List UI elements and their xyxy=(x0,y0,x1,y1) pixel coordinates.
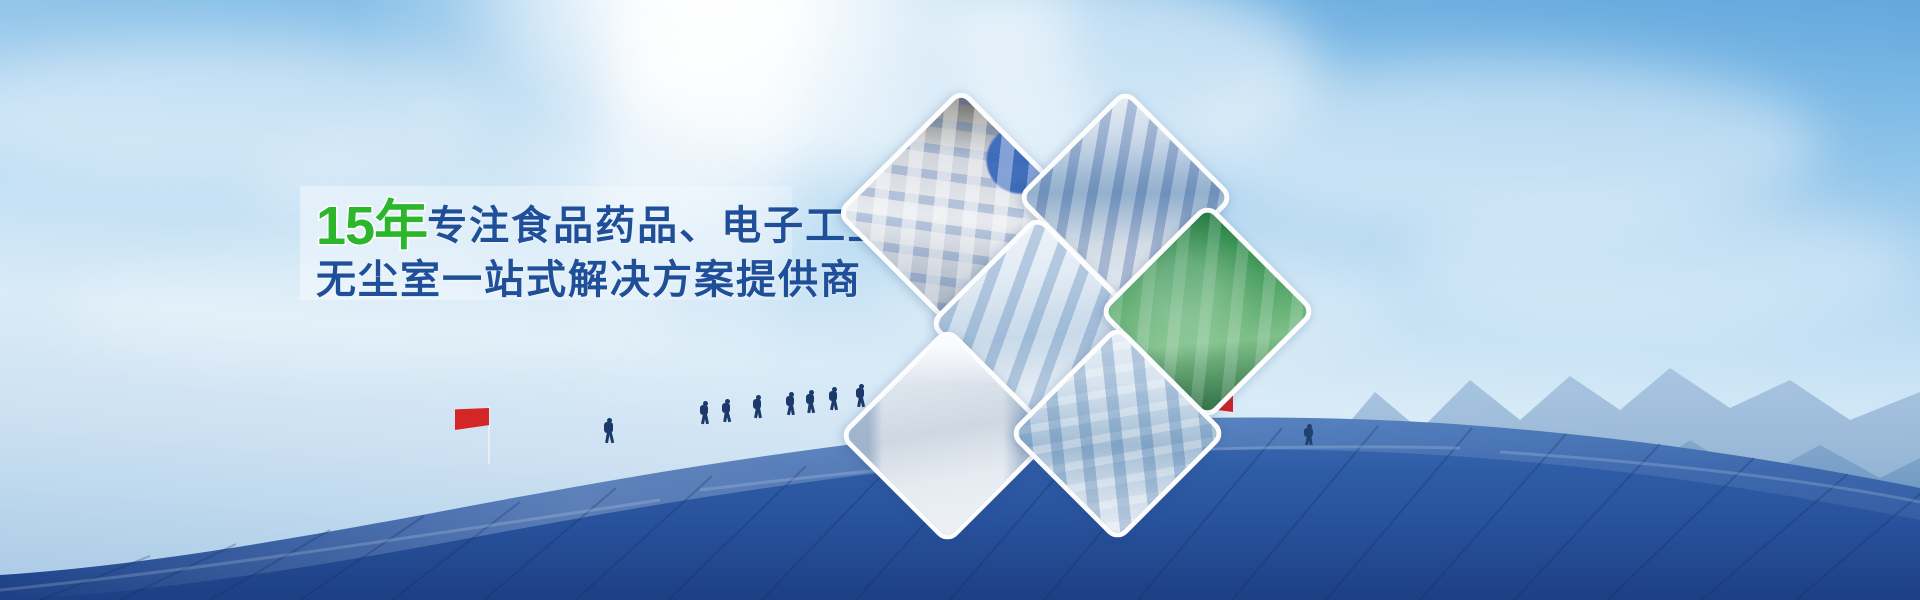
photo-collage xyxy=(830,80,1290,480)
hero-banner: 15年专注食品药品、电子工业 无尘室一站式解决方案提供商 xyxy=(0,0,1920,600)
climber-1 xyxy=(604,418,616,444)
cloud-1 xyxy=(0,40,500,180)
headline-line-2: 无尘室一站式解决方案提供商 xyxy=(316,259,796,301)
climber-6 xyxy=(806,390,817,414)
headline-line-1-rest: 专注食品药品、电子工业 xyxy=(427,203,889,249)
headline-line-1: 15年专注食品药品、电子工业 xyxy=(316,198,796,255)
climber-5 xyxy=(786,392,797,416)
climber-3 xyxy=(722,399,733,423)
climber-10 xyxy=(1303,424,1317,446)
headline: 15年专注食品药品、电子工业 无尘室一站式解决方案提供商 xyxy=(316,198,796,302)
climber-4 xyxy=(753,395,764,419)
climber-2 xyxy=(700,401,711,425)
years-number: 15年 xyxy=(316,196,427,256)
red-flag-left xyxy=(455,406,503,464)
